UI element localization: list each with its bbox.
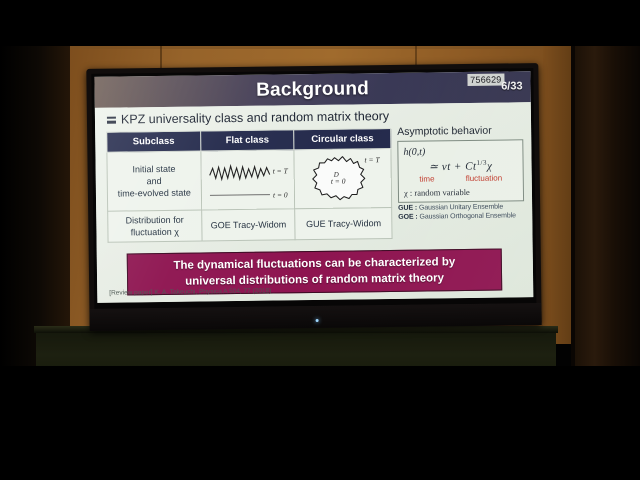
asymptotic-title: Asymptotic behavior [397,124,523,138]
presentation-slide: Background 756629 6/33 KPZ universality … [94,71,533,303]
door[interactable] [575,40,640,370]
left-dark-wall [0,40,70,370]
cell-circular-diagram: t = T D t = 0 [294,148,391,208]
power-led-icon [316,319,319,322]
col-header-flat: Flat class [200,130,294,151]
label-line-3: time-evolved state [110,187,199,200]
flat-class-diagram-icon: t = T t = 0 [201,150,294,209]
ensemble-goe-line: GOE : Gaussian Orthogonal Ensemble [398,212,524,221]
asymptotic-panel: Asymptotic behavior h(0,t) ≃ vt + Ct1/3χ… [397,124,524,220]
status-badge: 756629 [467,73,504,85]
label-time: time [419,174,434,183]
slide-heading-label: KPZ universality class and random matrix… [121,109,389,127]
banner-line-2: universal distributions of random matrix… [136,270,493,291]
ensemble-gue-line: GUE : Gaussian Unitary Ensemble [398,203,524,212]
circular-class-diagram-icon: t = T D t = 0 [295,149,391,208]
cell-initial-state-label: Initial state and time-evolved state [107,151,201,211]
circular-outer-annotation: t = T [365,155,381,164]
cell-distribution-label: Distribution for fluctuation χ [108,210,202,242]
equals-bullet-icon [107,115,116,124]
circular-inner-annotation: t = 0 [331,177,346,186]
formula-chi: χ [487,160,493,172]
random-variable-note: χ : random variable [404,186,518,197]
col-header-circular: Circular class [294,128,391,149]
ensemble-goe-abbr: GOE : [398,213,419,220]
slide-heading: KPZ universality class and random matrix… [107,109,389,127]
television: Background 756629 6/33 KPZ universality … [86,63,541,331]
cell-gue-tracy-widom: GUE Tracy-Widom [295,207,392,239]
letterbox-bottom [0,366,640,480]
ensemble-gue-abbr: GUE : [398,204,419,211]
formula-term-labels: time fluctuation [404,173,518,183]
cell-flat-diagram: t = T t = 0 [201,150,295,210]
col-header-subclass: Subclass [107,131,201,152]
wall-rail [60,46,580,49]
ensemble-goe-text: Gaussian Orthogonal Ensemble [419,212,516,220]
universality-table: Subclass Flat class Circular class Initi… [106,128,392,243]
flat-top-annotation: t = T [272,166,288,175]
cell-goe-tracy-widom: GOE Tracy-Widom [201,209,295,241]
slide-body: KPZ universality class and random matrix… [95,102,534,303]
letterbox-top [0,0,640,46]
table-row: Distribution for fluctuation χ GOE Tracy… [108,207,392,242]
label-line-2: fluctuation χ [110,226,199,239]
formula-rhs-text: ≃ vt + Ct [429,161,477,174]
page-counter: 6/33 [501,80,523,92]
formula-rhs: ≃ vt + Ct1/3χ [404,158,518,173]
flat-bottom-annotation: t = 0 [273,190,288,199]
asymptotic-formula-box: h(0,t) ≃ vt + Ct1/3χ time fluctuation χ … [397,139,524,202]
ensemble-gue-text: Gaussian Unitary Ensemble [419,203,503,211]
formula-lhs: h(0,t) [403,145,517,157]
table-row: Initial state and time-evolved state t =… [107,148,392,211]
citation: [Review paper] K. A. Takeuchi, Physica A… [109,288,271,297]
photo-scene: Background 756629 6/33 KPZ universality … [0,0,640,480]
label-fluctuation: fluctuation [466,173,503,182]
formula-exponent: 1/3 [476,159,487,167]
